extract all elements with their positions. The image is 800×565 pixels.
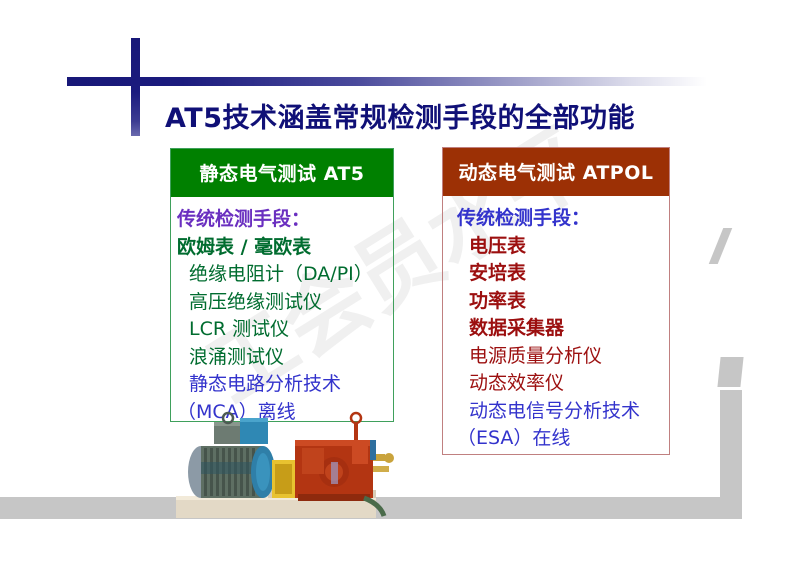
- list-item: 静态电路分析技术: [177, 371, 393, 399]
- list-item: 传统检测手段：: [457, 205, 669, 233]
- panel-header-dynamic-electrical-test: 动态电气测试 ATPOL: [443, 148, 669, 196]
- list-item: 欧姆表 / 毫欧表: [177, 234, 393, 262]
- watermark-bracket-vertical: [720, 390, 742, 515]
- list-item: 功率表: [457, 288, 669, 316]
- page-title: AT5技术涵盖常规检测手段的全部功能: [0, 96, 800, 135]
- list-item: LCR 测试仪: [177, 316, 393, 344]
- panel-static-electrical-test: 静态电气测试 AT5 传统检测手段： 欧姆表 / 毫欧表 绝缘电阻计（DA/PI…: [170, 148, 394, 422]
- list-item: 数据采集器: [457, 315, 669, 343]
- list-item: 电压表: [457, 233, 669, 261]
- panel-body-dynamic-electrical-test: 传统检测手段： 电压表 安培表 功率表 数据采集器 电源质量分析仪 动态效率仪 …: [443, 196, 669, 463]
- list-item: 浪涌测试仪: [177, 344, 393, 372]
- slide-canvas: 工会员水平 AT5技术涵盖常规检测手段的全部功能 静态电气测试 AT5 传统检测…: [0, 0, 800, 565]
- list-item: （ESA）在线: [457, 425, 669, 453]
- list-item: 安培表: [457, 260, 669, 288]
- panel-body-static-electrical-test: 传统检测手段： 欧姆表 / 毫欧表 绝缘电阻计（DA/PI） 高压绝缘测试仪 L…: [171, 197, 393, 436]
- panel-header-static-electrical-test: 静态电气测试 AT5: [171, 149, 393, 197]
- watermark-bracket-corner: [720, 497, 742, 519]
- list-item: 高压绝缘测试仪: [177, 289, 393, 317]
- list-item: 绝缘电阻计（DA/PI）: [177, 261, 393, 289]
- list-item: 动态电信号分析技术: [457, 398, 669, 426]
- list-item: 传统检测手段：: [177, 206, 393, 234]
- list-item: 电源质量分析仪: [457, 343, 669, 371]
- list-item: 动态效率仪: [457, 370, 669, 398]
- motor-gearbox-photo: [168, 410, 413, 523]
- watermark-diagonal-mark-1: [709, 228, 733, 264]
- panel-dynamic-electrical-test: 动态电气测试 ATPOL 传统检测手段： 电压表 安培表 功率表 数据采集器 电…: [442, 147, 670, 455]
- decorative-horizontal-rule: [67, 77, 707, 86]
- watermark-diagonal-mark-2: [717, 357, 743, 387]
